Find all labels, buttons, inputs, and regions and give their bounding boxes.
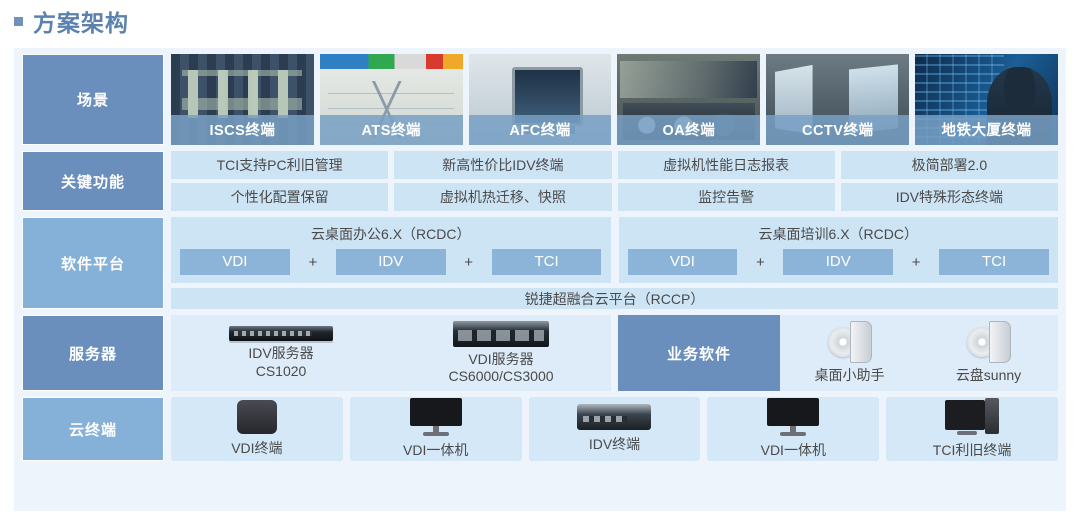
terminal-item-tci-reuse[interactable]: TCI利旧终端 (886, 397, 1058, 461)
cloud-terminal-items: VDI终端 VDI一体机 IDV终端 VDI一体机 (171, 397, 1058, 461)
scene-caption: CCTV终端 (766, 115, 909, 145)
terminal-item-vdi-aio-1[interactable]: VDI一体机 (350, 397, 522, 461)
idv-desktop-box-icon (577, 404, 651, 430)
server-name: IDV服务器 (248, 345, 313, 363)
chip-vdi[interactable]: VDI (180, 249, 290, 275)
software-group-chips: VDI + IDV + TCI (180, 249, 602, 275)
cloud-terminal-row: 云终端 VDI终端 VDI一体机 IDV终端 VDI一体机 (14, 391, 1066, 469)
rack-server-2u-icon (453, 321, 549, 347)
operator-plus: + (893, 254, 939, 271)
business-software-group: 业务软件 桌面小助手 云盘sunny (618, 315, 1058, 391)
monitor-icon (767, 398, 819, 436)
scene-row: 场景 ISCS终端 ATS终端 AFC终端 OA终端 CCTV终端 (14, 48, 1066, 145)
chip-vdi[interactable]: VDI (628, 249, 738, 275)
function-cell[interactable]: TCI支持PC利旧管理 (171, 151, 388, 179)
business-software-label: 业务软件 (618, 315, 780, 391)
scene-item-afc[interactable]: AFC终端 (469, 54, 612, 145)
business-software-item-assistant[interactable]: 桌面小助手 (780, 315, 919, 391)
terminal-caption: VDI终端 (231, 438, 282, 458)
software-group-chips: VDI + IDV + TCI (628, 249, 1050, 275)
operator-plus: + (737, 254, 783, 271)
scene-caption: ATS终端 (320, 115, 463, 145)
function-cell[interactable]: 新高性价比IDV终端 (394, 151, 611, 179)
chip-tci[interactable]: TCI (492, 249, 602, 275)
row-label-server: 服务器 (22, 315, 164, 391)
server-group: IDV服务器 CS1020 VDI服务器 CS6000/CS3000 (171, 315, 611, 391)
terminal-caption: TCI利旧终端 (933, 440, 1012, 460)
hyper-converged-platform-bar[interactable]: 锐捷超融合云平台（RCCP） (171, 288, 1058, 309)
business-software-name: 桌面小助手 (815, 365, 885, 385)
thin-client-box-icon (237, 400, 277, 434)
key-functions-line-2: 个性化配置保留 虚拟机热迁移、快照 监控告警 IDV特殊形态终端 (171, 183, 1058, 211)
monitor-icon (410, 398, 462, 436)
software-platform-items: 云桌面办公6.X（RCDC） VDI + IDV + TCI 云桌面培训6.X（… (171, 217, 1058, 309)
scene-caption: ISCS终端 (171, 115, 314, 145)
function-cell[interactable]: 虚拟机热迁移、快照 (394, 183, 611, 211)
server-model: CS1020 (256, 363, 307, 381)
page-title: 方案架构 (0, 0, 1080, 42)
operator-plus: + (290, 254, 336, 271)
chip-idv[interactable]: IDV (336, 249, 446, 275)
function-cell[interactable]: 极简部署2.0 (841, 151, 1058, 179)
terminal-caption: IDV终端 (589, 434, 640, 454)
scene-item-metro-building[interactable]: 地铁大厦终端 (915, 54, 1058, 145)
server-model: CS6000/CS3000 (448, 368, 553, 386)
rack-server-1u-icon (229, 326, 333, 341)
software-group-title: 云桌面培训6.X（RCDC） (628, 222, 1050, 249)
row-label-key-functions: 关键功能 (22, 151, 164, 211)
row-label-scene: 场景 (22, 54, 164, 145)
pc-tower-monitor-icon (945, 398, 999, 436)
business-software-items: 桌面小助手 云盘sunny (780, 315, 1058, 391)
business-software-item-cloud-disk[interactable]: 云盘sunny (919, 315, 1058, 391)
key-functions-items: TCI支持PC利旧管理 新高性价比IDV终端 虚拟机性能日志报表 极简部署2.0… (171, 151, 1058, 211)
software-group-office: 云桌面办公6.X（RCDC） VDI + IDV + TCI (171, 217, 611, 283)
business-software-name: 云盘sunny (956, 365, 1021, 385)
server-item-idv[interactable]: IDV服务器 CS1020 (171, 315, 391, 391)
chip-tci[interactable]: TCI (939, 249, 1049, 275)
software-group-title: 云桌面办公6.X（RCDC） (180, 222, 602, 249)
server-row: 服务器 IDV服务器 CS1020 VDI服务器 CS6000/CS3000 业… (14, 309, 1066, 391)
scene-item-oa[interactable]: OA终端 (617, 54, 760, 145)
terminal-item-idv-client[interactable]: IDV终端 (529, 397, 701, 461)
scene-caption: OA终端 (617, 115, 760, 145)
scene-item-cctv[interactable]: CCTV终端 (766, 54, 909, 145)
function-cell[interactable]: IDV特殊形态终端 (841, 183, 1058, 211)
software-group-training: 云桌面培训6.X（RCDC） VDI + IDV + TCI (619, 217, 1059, 283)
function-cell[interactable]: 个性化配置保留 (171, 183, 388, 211)
terminal-item-vdi-aio-2[interactable]: VDI一体机 (707, 397, 879, 461)
software-groups: 云桌面办公6.X（RCDC） VDI + IDV + TCI 云桌面培训6.X（… (171, 217, 1058, 283)
bullet-icon (14, 17, 23, 26)
cd-disc-icon (967, 321, 1011, 361)
terminal-item-vdi-client[interactable]: VDI终端 (171, 397, 343, 461)
chip-idv[interactable]: IDV (783, 249, 893, 275)
row-label-cloud-terminal: 云终端 (22, 397, 164, 461)
scene-item-iscs[interactable]: ISCS终端 (171, 54, 314, 145)
function-cell[interactable]: 虚拟机性能日志报表 (618, 151, 835, 179)
terminal-caption: VDI一体机 (403, 440, 468, 460)
server-items: IDV服务器 CS1020 VDI服务器 CS6000/CS3000 业务软件 (171, 315, 1058, 391)
cd-disc-icon (828, 321, 872, 361)
architecture-diagram: 场景 ISCS终端 ATS终端 AFC终端 OA终端 CCTV终端 (14, 48, 1066, 511)
row-label-software-platform: 软件平台 (22, 217, 164, 309)
scene-caption: AFC终端 (469, 115, 612, 145)
server-item-vdi[interactable]: VDI服务器 CS6000/CS3000 (391, 315, 611, 391)
key-functions-line-1: TCI支持PC利旧管理 新高性价比IDV终端 虚拟机性能日志报表 极简部署2.0 (171, 151, 1058, 179)
operator-plus: + (446, 254, 492, 271)
page-title-text: 方案架构 (33, 4, 129, 38)
software-platform-row: 软件平台 云桌面办公6.X（RCDC） VDI + IDV + TCI 云桌面培… (14, 211, 1066, 309)
terminal-caption: VDI一体机 (761, 440, 826, 460)
scene-caption: 地铁大厦终端 (915, 115, 1058, 145)
scene-item-ats[interactable]: ATS终端 (320, 54, 463, 145)
scene-items: ISCS终端 ATS终端 AFC终端 OA终端 CCTV终端 地铁大厦终端 (171, 54, 1058, 145)
key-functions-row: 关键功能 TCI支持PC利旧管理 新高性价比IDV终端 虚拟机性能日志报表 极简… (14, 145, 1066, 211)
server-name: VDI服务器 (468, 351, 533, 369)
function-cell[interactable]: 监控告警 (618, 183, 835, 211)
